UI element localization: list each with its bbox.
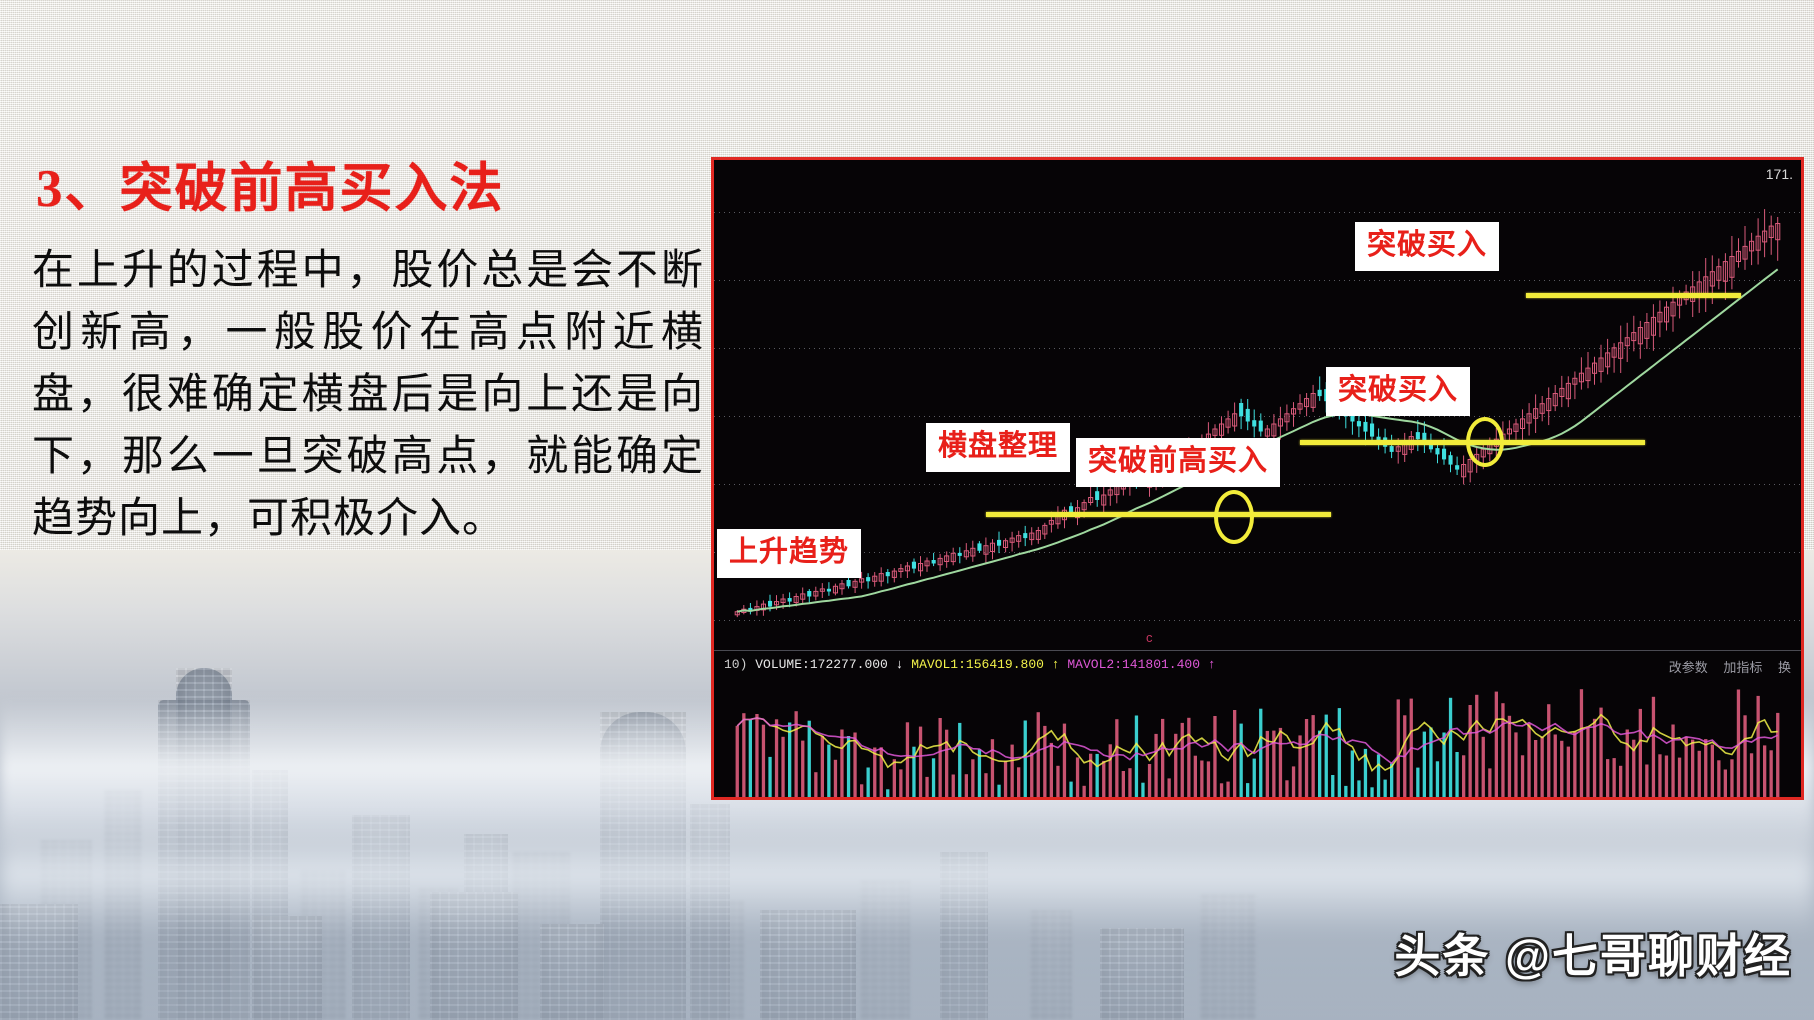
- mavol1-value: 156419.800: [966, 657, 1044, 672]
- mavol2-label: MAVOL2: [1067, 657, 1114, 672]
- annotation-consolidation: 横盘整理: [926, 423, 1070, 472]
- mavol2-trend-arrow: ↑: [1208, 657, 1216, 672]
- resistance-line-3: [1526, 293, 1741, 298]
- annotation-breakout-buy-2: 突破买入: [1326, 367, 1470, 416]
- volume-value: 172277.000: [810, 657, 888, 672]
- volume-label: VOLUME: [755, 657, 802, 672]
- building-fg-4: [540, 924, 604, 1020]
- fog-band-lower: [0, 815, 1814, 935]
- volume-readout: 10) VOLUME:172277.000 ↓ MAVOL1:156419.80…: [724, 657, 1216, 672]
- mavol2-value: 141801.400: [1122, 657, 1200, 672]
- volume-index: 10): [724, 657, 747, 672]
- watermark-text: 头条 @七哥聊财经: [1394, 920, 1792, 986]
- page-title: 3、突破前高买入法: [36, 146, 505, 222]
- annotation-breakout-prev-high: 突破前高买入: [1076, 438, 1280, 487]
- slide-canvas: 3、突破前高买入法 在上升的过程中，股价总是会不断创新高，一般股价在高点附近横盘…: [0, 0, 1814, 1020]
- mavol1-label: MAVOL1: [911, 657, 958, 672]
- breakout-circle-2: [1466, 417, 1504, 467]
- volume-bars-plot: [714, 673, 1801, 797]
- stock-chart-panel[interactable]: 171. c 上升趋势 横盘整理 突破前高买入 突破买入 突破买入 10) VO…: [711, 157, 1804, 800]
- candlestick-plot: [714, 160, 1801, 650]
- annotation-uptrend: 上升趋势: [717, 529, 861, 578]
- building-fg-6: [1100, 928, 1184, 1020]
- volume-trend-arrow: ↓: [896, 657, 904, 672]
- volume-pane[interactable]: 10) VOLUME:172277.000 ↓ MAVOL1:156419.80…: [714, 650, 1801, 797]
- breakout-circle-1: [1214, 490, 1254, 544]
- cursor-marker: c: [1146, 630, 1153, 645]
- body-paragraph: 在上升的过程中，股价总是会不断创新高，一般股价在高点附近横盘，很难确定横盘后是向…: [32, 240, 704, 550]
- price-pane[interactable]: 171. c: [714, 160, 1801, 650]
- resistance-line-1: [986, 512, 1331, 517]
- annotation-breakout-buy-1: 突破买入: [1355, 222, 1499, 271]
- mavol1-trend-arrow: ↑: [1052, 657, 1060, 672]
